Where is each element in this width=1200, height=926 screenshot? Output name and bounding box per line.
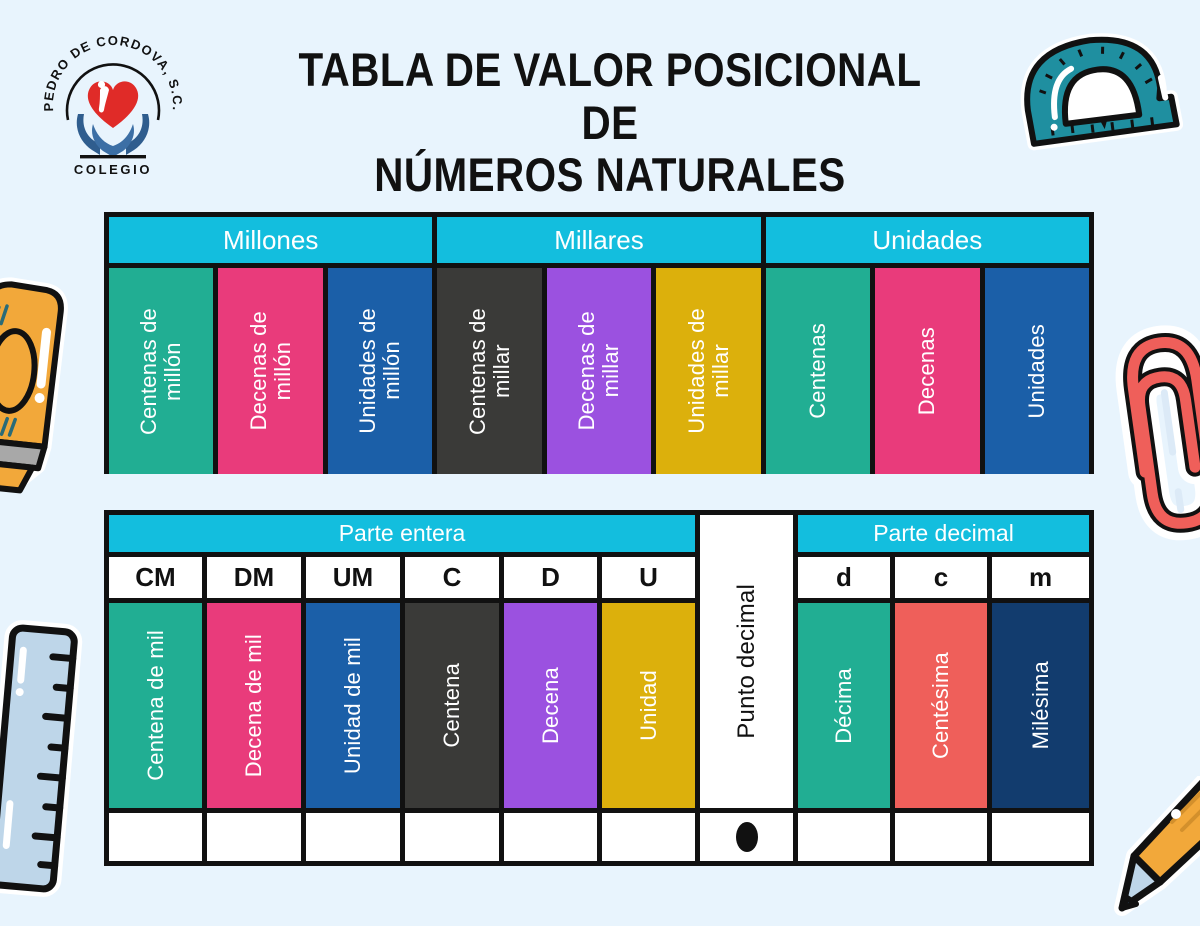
abbr-c: C xyxy=(405,557,504,603)
column-label: Milésima xyxy=(1029,661,1053,749)
answer-cell-centesima[interactable] xyxy=(895,813,992,861)
column-label: Décima xyxy=(832,668,856,744)
answer-cell-d[interactable] xyxy=(504,813,602,861)
column-centenas: Centenas xyxy=(766,268,875,474)
page-title: TABLA DE VALOR POSICIONAL DE NÚMEROS NAT… xyxy=(270,44,949,202)
abbr-label: U xyxy=(639,562,658,593)
abbr-label: UM xyxy=(333,562,373,593)
table-one-column-row: Centenas de millón Decenas de millón Uni… xyxy=(109,263,1089,474)
answer-cell-decima[interactable] xyxy=(798,813,895,861)
abbr-decima: d xyxy=(798,557,895,603)
column-decena-de-mil: Decena de mil xyxy=(207,603,306,813)
place-value-table-naturals: Millones Millares Unidades Centenas de m… xyxy=(104,212,1094,474)
column-label: Centésima xyxy=(929,652,953,759)
column-decenas-de-millar: Decenas de millar xyxy=(547,268,656,474)
column-centenas-de-millar: Centenas de millar xyxy=(437,268,546,474)
abbr-d: D xyxy=(504,557,602,603)
group-header-millones: Millones xyxy=(109,217,437,263)
column-unidades-de-millar: Unidades de millar xyxy=(656,268,765,474)
group-label: Millares xyxy=(554,225,644,256)
column-decena: Decena xyxy=(504,603,602,813)
punto-decimal-label: Punto decimal xyxy=(734,584,760,739)
protractor-sticker xyxy=(1008,24,1183,159)
column-label: Centena de mil xyxy=(144,630,168,781)
abbr-um: UM xyxy=(306,557,405,603)
column-centena: Centena xyxy=(405,603,504,813)
column-label: Decena xyxy=(539,667,563,744)
abbr-u: U xyxy=(602,557,700,603)
column-milesima: Milésima xyxy=(992,603,1089,813)
abbr-milesima: m xyxy=(992,557,1089,603)
column-centenas-de-millon: Centenas de millón xyxy=(109,268,218,474)
band-parte-decimal: Parte decimal xyxy=(798,515,1089,557)
answer-cell-u[interactable] xyxy=(602,813,700,861)
answer-cell-um[interactable] xyxy=(306,813,405,861)
table-one-group-row: Millones Millares Unidades xyxy=(109,217,1089,263)
abbr-label: DM xyxy=(234,562,274,593)
logo-bottom-text: COLEGIO xyxy=(74,162,152,177)
column-label: Decenas de millón xyxy=(247,311,295,430)
column-unidades: Unidades xyxy=(985,268,1089,474)
pencil-sticker xyxy=(1096,776,1200,926)
answer-cell-decimal-point xyxy=(700,813,798,861)
column-unidades-de-millon: Unidades de millón xyxy=(328,268,437,474)
column-unidad-de-mil: Unidad de mil xyxy=(306,603,405,813)
group-label: Millones xyxy=(223,225,318,256)
column-label: Centenas de millón xyxy=(137,308,185,435)
column-label: Decenas de millar xyxy=(575,311,623,430)
abbr-label: CM xyxy=(135,562,175,593)
ruler-sticker xyxy=(0,608,94,908)
column-label: Unidades de millón xyxy=(356,308,404,434)
group-header-millares: Millares xyxy=(437,217,765,263)
abbr-centesima: c xyxy=(895,557,992,603)
column-label: Unidades xyxy=(1025,324,1049,419)
column-label: Centenas de millar xyxy=(466,308,514,435)
abbr-label: D xyxy=(541,562,560,593)
abbr-label: C xyxy=(443,562,462,593)
answer-cell-c[interactable] xyxy=(405,813,504,861)
group-label: Unidades xyxy=(872,225,982,256)
column-unidad: Unidad xyxy=(602,603,700,813)
band-parte-entera: Parte entera xyxy=(109,515,700,557)
column-label: Unidades de millar xyxy=(685,308,733,434)
column-decenas: Decenas xyxy=(875,268,984,474)
school-logo: PEDRO DE CORDOVA, S.C. COLEGIO xyxy=(38,28,188,178)
abbr-label: m xyxy=(1029,562,1052,593)
highlighter-marker-sticker xyxy=(0,268,76,518)
abbr-dm: DM xyxy=(207,557,306,603)
column-decima: Décima xyxy=(798,603,895,813)
answer-cell-milesima[interactable] xyxy=(992,813,1089,861)
band-label: Parte decimal xyxy=(873,520,1014,547)
column-label: Centenas xyxy=(806,323,830,419)
column-centesima: Centésima xyxy=(895,603,992,813)
decimal-point-dot xyxy=(736,822,758,852)
band-label: Parte entera xyxy=(339,520,466,547)
abbr-cm: CM xyxy=(109,557,207,603)
column-label: Decena de mil xyxy=(242,634,266,777)
abbr-label: c xyxy=(934,562,948,593)
answer-cell-cm[interactable] xyxy=(109,813,207,861)
column-label: Unidad de mil xyxy=(341,637,365,774)
paperclip-sticker xyxy=(1112,318,1200,548)
column-centena-de-mil: Centena de mil xyxy=(109,603,207,813)
punto-decimal-cell: Punto decimal xyxy=(700,515,798,813)
column-label: Unidad xyxy=(637,670,661,741)
column-decenas-de-millon: Decenas de millón xyxy=(218,268,327,474)
answer-cell-dm[interactable] xyxy=(207,813,306,861)
group-header-unidades: Unidades xyxy=(766,217,1089,263)
column-label: Centena xyxy=(440,663,464,748)
place-value-table-decimals: Parte entera Punto decimal Parte decimal… xyxy=(104,510,1094,866)
abbr-label: d xyxy=(836,562,852,593)
column-label: Decenas xyxy=(915,327,939,415)
